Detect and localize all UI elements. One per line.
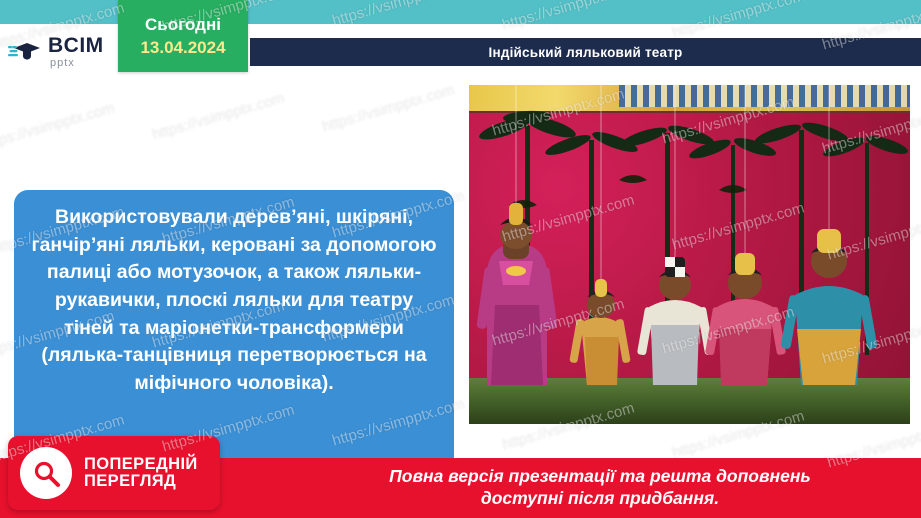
date-badge: Сьогодні 13.04.2024 [118,0,248,72]
page-title: Індійський ляльковий театр [489,45,683,60]
preview-button-line2: ПЕРЕГЛЯД [84,473,198,490]
date-badge-label: Сьогодні [145,15,221,35]
watermark-text: https://vsimpptx.com [320,81,456,135]
puppet-4 [705,253,786,385]
brand-suffix: pptx [50,58,104,69]
puppet-1 [476,203,557,385]
magnifier-icon [20,447,72,499]
preview-button[interactable]: ПОПЕРЕДНІЙ ПЕРЕГЛЯД [8,436,220,510]
watermark-text: https://vsimpptx.com [150,89,286,143]
content-text: Використовували дерев’яні, шкіряні, ганч… [30,204,438,398]
watermark-text: https://vsimpptx.com [0,99,116,153]
graduation-cap-icon [8,38,42,66]
purchase-banner-line1: Повна версія презентації та решта доповн… [300,466,900,488]
puppet-3 [637,257,714,385]
slide-title-bar: Індійський ляльковий театр [250,38,921,66]
purchase-banner-line2: доступні після придбання. [300,488,900,510]
slide-photo-inner [469,85,910,424]
date-badge-value: 13.04.2024 [140,38,225,58]
purchase-banner-message: Повна версія презентації та решта доповн… [300,466,900,510]
puppet-figures [469,85,910,424]
puppet-5 [780,229,877,385]
brand-name: BCIM [48,35,104,56]
slide-photo [466,82,913,427]
puppet-2 [569,279,631,385]
preview-button-label: ПОПЕРЕДНІЙ ПЕРЕГЛЯД [84,456,198,491]
magnifier-glyph [33,460,59,486]
brand-logo-text: BCIM pptx [48,35,104,69]
brand-logo: BCIM pptx [8,32,128,72]
preview-button-line1: ПОПЕРЕДНІЙ [84,456,198,473]
slide: BCIM pptx Сьогодні 13.04.2024 Індійський… [0,0,921,518]
